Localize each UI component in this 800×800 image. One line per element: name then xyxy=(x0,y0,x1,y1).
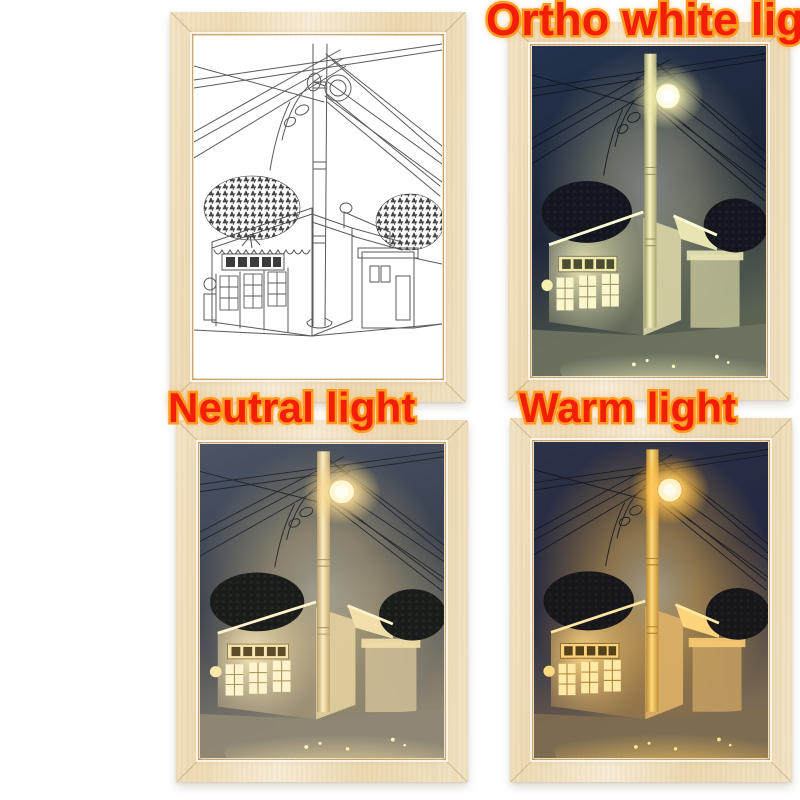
panel-line-art-unlit[interactable] xyxy=(170,12,466,402)
artwork-line-art xyxy=(194,36,442,378)
scene-svg-ortho xyxy=(532,46,766,376)
comparison-board: Ortho white ligh xyxy=(0,0,800,800)
artwork-ortho-white xyxy=(532,46,766,376)
artwork-neutral-light xyxy=(200,444,444,758)
scene-svg-lineart xyxy=(194,36,442,378)
panel-neutral-light[interactable] xyxy=(176,420,468,782)
panel-warm-light[interactable] xyxy=(510,418,792,782)
scene-svg-warm xyxy=(534,442,768,758)
artwork-warm-light xyxy=(534,442,768,758)
panel-ortho-white-light[interactable] xyxy=(508,22,790,400)
tree-right xyxy=(376,194,442,250)
scene-svg-neutral xyxy=(200,444,444,758)
